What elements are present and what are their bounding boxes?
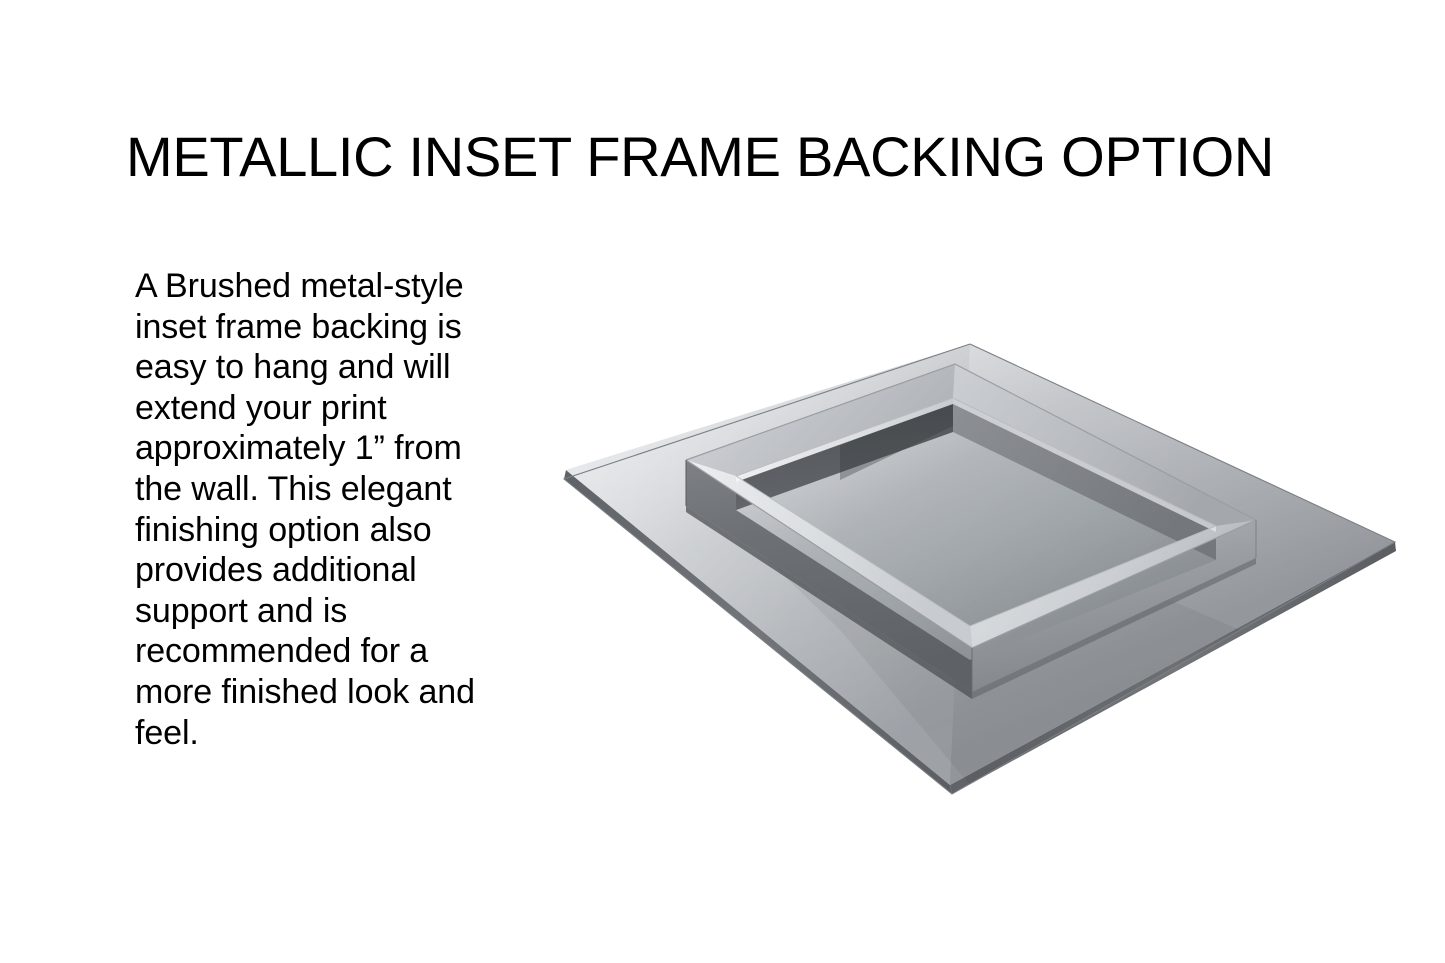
- body-paragraph: A Brushed metal-style inset frame backin…: [135, 266, 487, 753]
- page-title: METALLIC INSET FRAME BACKING OPTION: [126, 126, 1326, 188]
- metallic-inset-frame-photo: [540, 330, 1420, 810]
- slide-canvas: METALLIC INSET FRAME BACKING OPTION A Br…: [0, 0, 1445, 963]
- product-illustration: [540, 330, 1420, 810]
